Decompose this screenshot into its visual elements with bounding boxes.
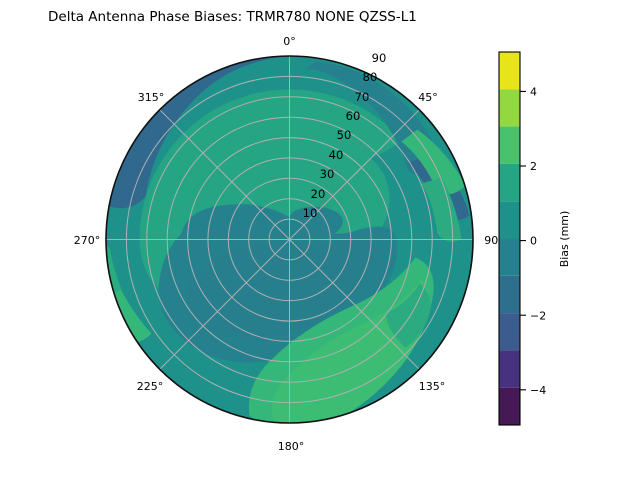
radial-label-50: 50 bbox=[337, 128, 352, 142]
colorbar-label-minus2: −2 bbox=[530, 309, 546, 322]
azimuth-label-315: 315° bbox=[138, 91, 165, 104]
colorbar-band-4 bbox=[499, 239, 520, 276]
colorbar-band-0 bbox=[499, 388, 520, 425]
radial-label-10: 10 bbox=[303, 206, 318, 220]
radial-label-40: 40 bbox=[329, 148, 344, 162]
colorbar-label-0: 0 bbox=[530, 235, 537, 248]
azimuth-label-45: 45° bbox=[418, 91, 438, 104]
colorbar-band-1 bbox=[499, 350, 520, 387]
azimuth-label-135: 135° bbox=[419, 380, 446, 393]
radial-label-80: 80 bbox=[363, 70, 378, 84]
radial-label-30: 30 bbox=[320, 167, 335, 181]
colorbar-label-2: 2 bbox=[530, 160, 537, 173]
colorbar-band-6 bbox=[499, 164, 520, 201]
polar-grid-spokes bbox=[106, 56, 473, 423]
radial-label-20: 20 bbox=[311, 187, 326, 201]
radial-label-70: 70 bbox=[355, 90, 370, 104]
azimuth-label-225: 225° bbox=[137, 380, 164, 393]
colorbar-band-2 bbox=[499, 313, 520, 350]
azimuth-label-180: 180° bbox=[278, 440, 305, 453]
radial-label-90: 90 bbox=[372, 51, 387, 65]
azimuth-label-270: 270° bbox=[74, 234, 101, 247]
colorbar-label-minus4: −4 bbox=[530, 384, 546, 397]
colorbar-band-8 bbox=[499, 89, 520, 126]
azimuth-label-0: 0° bbox=[283, 35, 296, 48]
radial-label-60: 60 bbox=[346, 109, 361, 123]
colorbar-band-9 bbox=[499, 52, 520, 89]
colorbar-band-7 bbox=[499, 127, 520, 164]
page-title: Delta Antenna Phase Biases: TRMR780 NONE… bbox=[48, 9, 417, 25]
colorbar-band-5 bbox=[499, 201, 520, 238]
colorbar-axis-title: Bias (mm) bbox=[558, 211, 571, 268]
colorbar-label-4: 4 bbox=[530, 86, 537, 99]
colorbar-band-3 bbox=[499, 276, 520, 313]
figure-canvas: Delta Antenna Phase Biases: TRMR780 NONE… bbox=[0, 0, 640, 480]
colorbar: 4 2 0 −2 −4 Bias (mm) bbox=[499, 52, 571, 425]
